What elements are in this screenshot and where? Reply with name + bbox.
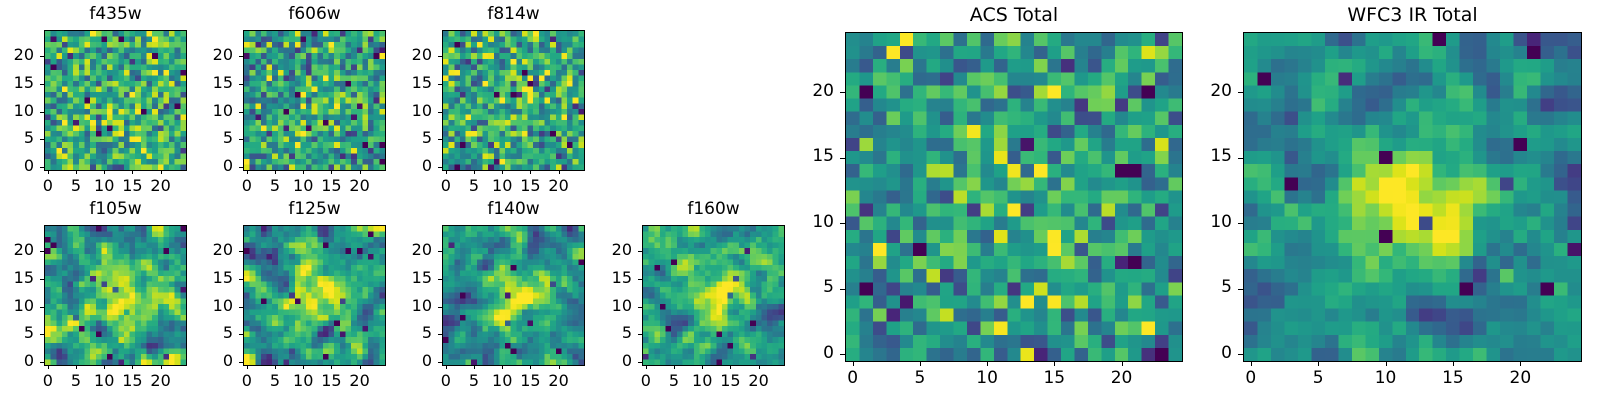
xtick-label-f160w-2: 10: [677, 373, 727, 389]
ytick-label-f814w-0: 0: [372, 158, 432, 174]
xtick-f140w-4: [559, 365, 560, 369]
heatmap-canvas-wfc3-ir-total: [1244, 33, 1581, 361]
xtick-f140w-1: [474, 365, 475, 369]
panel-title-acs-total: ACS Total: [845, 6, 1183, 25]
ytick-f160w-2: [638, 307, 642, 308]
xtick-acs-total-3: [1054, 361, 1055, 366]
ytick-label-f435w-3: 15: [0, 75, 34, 91]
xtick-label-f606w-3: 15: [306, 178, 356, 194]
ytick-label-wfc3-ir-total-4: 20: [1172, 83, 1232, 100]
xtick-label-wfc3-ir-total-4: 20: [1495, 370, 1545, 387]
xtick-label-acs-total-4: 20: [1097, 370, 1147, 387]
xtick-wfc3-ir-total-1: [1318, 361, 1319, 366]
heatmap-canvas-f435w: [45, 31, 186, 170]
ytick-label-f160w-3: 15: [572, 270, 632, 286]
ytick-label-acs-total-2: 10: [774, 214, 834, 231]
ytick-label-wfc3-ir-total-0: 0: [1172, 345, 1232, 362]
ytick-wfc3-ir-total-2: [1238, 223, 1243, 224]
xtick-f606w-1: [275, 170, 276, 174]
ytick-f814w-1: [438, 139, 442, 140]
ytick-f435w-3: [40, 84, 44, 85]
ytick-label-f125w-4: 20: [173, 242, 233, 258]
ytick-label-f105w-0: 0: [0, 353, 34, 369]
xtick-f105w-4: [161, 365, 162, 369]
ytick-label-f125w-0: 0: [173, 353, 233, 369]
heatmap-wfc3-ir-total: [1243, 32, 1582, 362]
xtick-label-wfc3-ir-total-0: 0: [1226, 370, 1276, 387]
ytick-f435w-4: [40, 56, 44, 57]
ytick-label-f140w-3: 15: [372, 270, 432, 286]
heatmap-f814w: [442, 30, 585, 171]
xtick-acs-total-1: [920, 361, 921, 366]
xtick-f160w-0: [646, 365, 647, 369]
heatmap-f435w: [44, 30, 187, 171]
heatmap-f140w: [442, 225, 585, 366]
ytick-f125w-1: [239, 334, 243, 335]
xtick-f125w-1: [275, 365, 276, 369]
xtick-f160w-3: [730, 365, 731, 369]
xtick-wfc3-ir-total-4: [1520, 361, 1521, 366]
xtick-label-acs-total-1: 5: [895, 370, 945, 387]
ytick-f435w-2: [40, 112, 44, 113]
ytick-label-acs-total-3: 15: [774, 148, 834, 165]
xtick-f435w-3: [132, 170, 133, 174]
xtick-label-acs-total-0: 0: [828, 370, 878, 387]
ytick-f125w-2: [239, 307, 243, 308]
xtick-label-f125w-3: 15: [306, 373, 356, 389]
xtick-label-wfc3-ir-total-3: 15: [1428, 370, 1478, 387]
xtick-label-acs-total-2: 10: [962, 370, 1012, 387]
ytick-f606w-3: [239, 84, 243, 85]
ytick-label-f606w-3: 15: [173, 75, 233, 91]
xtick-f606w-0: [247, 170, 248, 174]
heatmap-canvas-acs-total: [846, 33, 1182, 361]
panel-f125w: f125w0510152005101520: [0, 0, 1600, 400]
ytick-f606w-4: [239, 56, 243, 57]
xtick-wfc3-ir-total-3: [1453, 361, 1454, 366]
ytick-f814w-2: [438, 112, 442, 113]
ytick-label-f105w-3: 15: [0, 270, 34, 286]
heatmap-f105w: [44, 225, 187, 366]
ytick-f125w-0: [239, 362, 243, 363]
xtick-label-f140w-2: 10: [477, 373, 527, 389]
ytick-f105w-4: [40, 251, 44, 252]
panel-f105w: f105w0510152005101520: [0, 0, 1600, 400]
xtick-f140w-2: [502, 365, 503, 369]
xtick-label-f125w-4: 20: [335, 373, 385, 389]
ytick-f140w-0: [438, 362, 442, 363]
xtick-f814w-0: [446, 170, 447, 174]
ytick-wfc3-ir-total-4: [1238, 92, 1243, 93]
ytick-label-acs-total-1: 5: [774, 279, 834, 296]
xtick-f435w-2: [104, 170, 105, 174]
ytick-acs-total-2: [840, 223, 845, 224]
xtick-f814w-4: [559, 170, 560, 174]
ytick-label-f160w-1: 5: [572, 325, 632, 341]
xtick-label-f814w-3: 15: [505, 178, 555, 194]
xtick-f125w-0: [247, 365, 248, 369]
heatmap-f160w: [642, 225, 785, 366]
ytick-f435w-1: [40, 139, 44, 140]
ytick-label-f105w-4: 20: [0, 242, 34, 258]
xtick-f160w-4: [759, 365, 760, 369]
heatmap-canvas-f125w: [244, 226, 385, 365]
ytick-label-f606w-2: 10: [173, 103, 233, 119]
ytick-f160w-0: [638, 362, 642, 363]
ytick-label-f160w-2: 10: [572, 298, 632, 314]
xtick-f435w-0: [48, 170, 49, 174]
panel-acs-total: ACS Total0510152005101520: [0, 0, 1600, 400]
ytick-label-f160w-0: 0: [572, 353, 632, 369]
xtick-label-f105w-0: 0: [23, 373, 73, 389]
ytick-acs-total-3: [840, 158, 845, 159]
xtick-label-f125w-2: 10: [278, 373, 328, 389]
ytick-label-f435w-2: 10: [0, 103, 34, 119]
xtick-f435w-4: [161, 170, 162, 174]
ytick-f435w-0: [40, 167, 44, 168]
ytick-f125w-3: [239, 279, 243, 280]
ytick-f814w-0: [438, 167, 442, 168]
ytick-f125w-4: [239, 251, 243, 252]
ytick-label-wfc3-ir-total-2: 10: [1172, 214, 1232, 231]
panel-title-f140w: f140w: [442, 201, 585, 218]
ytick-f140w-3: [438, 279, 442, 280]
panel-title-f606w: f606w: [243, 6, 386, 23]
ytick-label-f125w-2: 10: [173, 298, 233, 314]
xtick-label-f140w-0: 0: [421, 373, 471, 389]
ytick-label-f435w-1: 5: [0, 130, 34, 146]
ytick-f606w-2: [239, 112, 243, 113]
xtick-f105w-2: [104, 365, 105, 369]
ytick-label-f140w-0: 0: [372, 353, 432, 369]
xtick-f140w-0: [446, 365, 447, 369]
xtick-f814w-3: [530, 170, 531, 174]
ytick-label-acs-total-0: 0: [774, 345, 834, 362]
xtick-label-f814w-2: 10: [477, 178, 527, 194]
panel-f435w: f435w0510152005101520: [0, 0, 1600, 400]
xtick-f606w-3: [331, 170, 332, 174]
xtick-f105w-3: [132, 365, 133, 369]
ytick-label-f160w-4: 20: [572, 242, 632, 258]
xtick-label-f140w-4: 20: [534, 373, 584, 389]
xtick-label-f814w-0: 0: [421, 178, 471, 194]
ytick-f140w-2: [438, 307, 442, 308]
ytick-label-f606w-1: 5: [173, 130, 233, 146]
ytick-f814w-4: [438, 56, 442, 57]
ytick-f814w-3: [438, 84, 442, 85]
xtick-label-wfc3-ir-total-1: 5: [1293, 370, 1343, 387]
xtick-label-f125w-0: 0: [222, 373, 272, 389]
xtick-f140w-3: [530, 365, 531, 369]
ytick-label-f105w-1: 5: [0, 325, 34, 341]
ytick-label-f435w-0: 0: [0, 158, 34, 174]
ytick-label-wfc3-ir-total-1: 5: [1172, 279, 1232, 296]
xtick-label-f814w-4: 20: [534, 178, 584, 194]
heatmap-f125w: [243, 225, 386, 366]
panel-title-f814w: f814w: [442, 6, 585, 23]
xtick-label-f160w-1: 5: [649, 373, 699, 389]
xtick-label-f105w-1: 5: [51, 373, 101, 389]
heatmap-canvas-f606w: [244, 31, 385, 170]
xtick-label-f435w-0: 0: [23, 178, 73, 194]
xtick-label-f606w-4: 20: [335, 178, 385, 194]
ytick-label-f140w-1: 5: [372, 325, 432, 341]
heatmap-canvas-f814w: [443, 31, 584, 170]
xtick-wfc3-ir-total-0: [1251, 361, 1252, 366]
heatmap-acs-total: [845, 32, 1183, 362]
xtick-label-f606w-2: 10: [278, 178, 328, 194]
xtick-label-f105w-3: 15: [107, 373, 157, 389]
xtick-label-f140w-3: 15: [505, 373, 555, 389]
ytick-f105w-3: [40, 279, 44, 280]
ytick-label-f814w-3: 15: [372, 75, 432, 91]
xtick-f814w-2: [502, 170, 503, 174]
xtick-f160w-1: [674, 365, 675, 369]
panel-f160w: f160w0510152005101520: [0, 0, 1600, 400]
xtick-label-f435w-1: 5: [51, 178, 101, 194]
ytick-label-f606w-4: 20: [173, 47, 233, 63]
ytick-wfc3-ir-total-3: [1238, 158, 1243, 159]
ytick-label-f140w-2: 10: [372, 298, 432, 314]
heatmap-canvas-f105w: [45, 226, 186, 365]
panel-title-f105w: f105w: [44, 201, 187, 218]
xtick-f606w-2: [303, 170, 304, 174]
ytick-f606w-1: [239, 139, 243, 140]
xtick-label-f606w-0: 0: [222, 178, 272, 194]
ytick-acs-total-0: [840, 354, 845, 355]
panel-title-wfc3-ir-total: WFC3 IR Total: [1243, 6, 1582, 25]
xtick-wfc3-ir-total-2: [1386, 361, 1387, 366]
ytick-label-f140w-4: 20: [372, 242, 432, 258]
ytick-wfc3-ir-total-1: [1238, 289, 1243, 290]
ytick-label-acs-total-4: 20: [774, 83, 834, 100]
xtick-label-f140w-1: 5: [449, 373, 499, 389]
xtick-label-f105w-2: 10: [79, 373, 129, 389]
xtick-label-f160w-4: 20: [734, 373, 784, 389]
xtick-label-f814w-1: 5: [449, 178, 499, 194]
panel-title-f435w: f435w: [44, 6, 187, 23]
xtick-f105w-0: [48, 365, 49, 369]
panel-f606w: f606w0510152005101520: [0, 0, 1600, 400]
ytick-f105w-2: [40, 307, 44, 308]
xtick-label-f160w-3: 15: [705, 373, 755, 389]
heatmap-f606w: [243, 30, 386, 171]
ytick-wfc3-ir-total-0: [1238, 354, 1243, 355]
ytick-f160w-4: [638, 251, 642, 252]
figure-canvas: f435w0510152005101520f606w05101520051015…: [0, 0, 1600, 400]
panel-f140w: f140w0510152005101520: [0, 0, 1600, 400]
ytick-f160w-3: [638, 279, 642, 280]
xtick-label-acs-total-3: 15: [1029, 370, 1079, 387]
xtick-label-f435w-2: 10: [79, 178, 129, 194]
xtick-label-f435w-4: 20: [136, 178, 186, 194]
xtick-f105w-1: [76, 365, 77, 369]
ytick-label-f125w-1: 5: [173, 325, 233, 341]
ytick-label-f814w-2: 10: [372, 103, 432, 119]
ytick-f105w-0: [40, 362, 44, 363]
ytick-label-f814w-4: 20: [372, 47, 432, 63]
xtick-label-f606w-1: 5: [250, 178, 300, 194]
xtick-f125w-3: [331, 365, 332, 369]
ytick-f606w-0: [239, 167, 243, 168]
ytick-label-f125w-3: 15: [173, 270, 233, 286]
xtick-f125w-2: [303, 365, 304, 369]
ytick-f160w-1: [638, 334, 642, 335]
xtick-f125w-4: [360, 365, 361, 369]
xtick-label-f105w-4: 20: [136, 373, 186, 389]
ytick-label-f606w-0: 0: [173, 158, 233, 174]
xtick-acs-total-0: [853, 361, 854, 366]
ytick-f140w-4: [438, 251, 442, 252]
xtick-label-f435w-3: 15: [107, 178, 157, 194]
ytick-label-f435w-4: 20: [0, 47, 34, 63]
xtick-acs-total-2: [987, 361, 988, 366]
panel-wfc3-ir-total: WFC3 IR Total0510152005101520: [0, 0, 1600, 400]
panel-title-f160w: f160w: [642, 201, 785, 218]
panel-title-f125w: f125w: [243, 201, 386, 218]
heatmap-canvas-f160w: [643, 226, 784, 365]
xtick-acs-total-4: [1122, 361, 1123, 366]
heatmap-canvas-f140w: [443, 226, 584, 365]
ytick-label-f105w-2: 10: [0, 298, 34, 314]
xtick-label-wfc3-ir-total-2: 10: [1361, 370, 1411, 387]
ytick-label-f814w-1: 5: [372, 130, 432, 146]
ytick-acs-total-4: [840, 92, 845, 93]
xtick-f160w-2: [702, 365, 703, 369]
ytick-f105w-1: [40, 334, 44, 335]
xtick-f606w-4: [360, 170, 361, 174]
panel-f814w: f814w0510152005101520: [0, 0, 1600, 400]
ytick-label-wfc3-ir-total-3: 15: [1172, 148, 1232, 165]
ytick-acs-total-1: [840, 289, 845, 290]
ytick-f140w-1: [438, 334, 442, 335]
xtick-f435w-1: [76, 170, 77, 174]
xtick-label-f125w-1: 5: [250, 373, 300, 389]
xtick-label-f160w-0: 0: [621, 373, 671, 389]
xtick-f814w-1: [474, 170, 475, 174]
